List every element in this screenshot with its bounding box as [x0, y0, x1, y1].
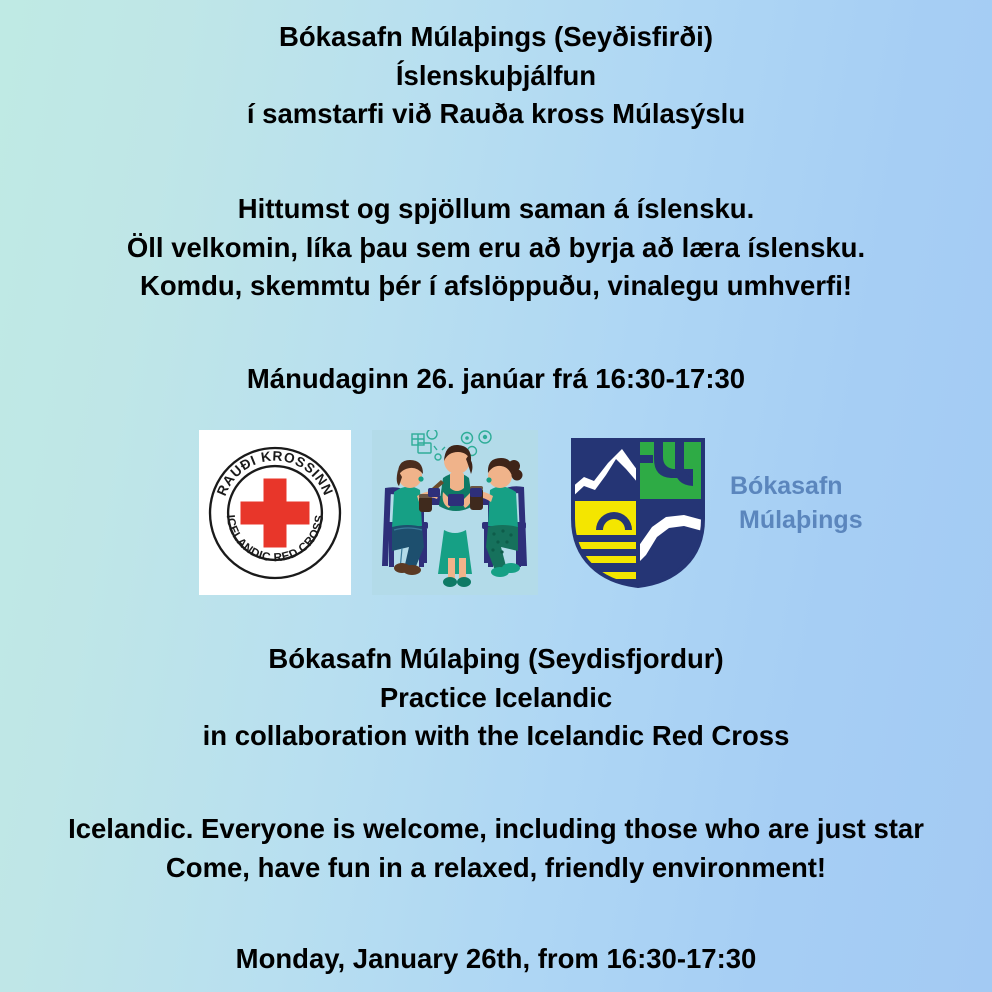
icelandic-heading: Bókasafn Múlaþings (Seyðisfirði) Íslensk… [0, 18, 992, 134]
english-body-line-2: Come, have fun in a relaxed, friendly en… [0, 849, 992, 888]
shield-icon [570, 437, 706, 589]
library-wordmark: Bókasafn Múlaþings [730, 470, 900, 538]
english-heading-line-3: in collaboration with the Icelandic Red … [0, 717, 992, 756]
icelandic-body-line-2: Öll velkomin, líka þau sem eru að byrja … [0, 229, 992, 268]
icelandic-red-cross-logo: RAUÐI KROSSINN ICELANDIC RED CROSS [199, 430, 351, 595]
poster-canvas: Bókasafn Múlaþings (Seyðisfirði) Íslensk… [0, 0, 992, 992]
logo-strip: RAUÐI KROSSINN ICELANDIC RED CROSS [196, 430, 896, 595]
english-body: Icelandic. Everyone is welcome, includin… [0, 810, 992, 887]
icelandic-body-line-3: Komdu, skemmtu þér í afslöppuðu, vinaleg… [0, 267, 992, 306]
library-wordmark-line-1: Bókasafn [730, 470, 900, 504]
mulathing-coat-of-arms [570, 437, 706, 589]
english-heading-line-2: Practice Icelandic [0, 679, 992, 718]
english-heading: Bókasafn Múlaþing (Seydisfjordur) Practi… [0, 640, 992, 756]
icelandic-heading-line-1: Bókasafn Múlaþings (Seyðisfirði) [0, 18, 992, 57]
icelandic-heading-line-3: í samstarfi við Rauða kross Múlasýslu [0, 95, 992, 134]
icelandic-body-line-1: Hittumst og spjöllum saman á íslensku. [0, 190, 992, 229]
people-at-table-illustration [372, 430, 538, 595]
library-wordmark-line-2: Múlaþings [730, 504, 900, 538]
red-cross-horizontal-bar [241, 501, 310, 524]
english-heading-line-1: Bókasafn Múlaþing (Seydisfjordur) [0, 640, 992, 679]
three-people-chatting-icon [372, 430, 538, 595]
icelandic-date-time: Mánudaginn 26. janúar frá 16:30-17:30 [0, 360, 992, 399]
english-date-time: Monday, January 26th, from 16:30-17:30 [0, 940, 992, 979]
icelandic-heading-line-2: Íslenskuþjálfun [0, 57, 992, 96]
english-body-line-1: Icelandic. Everyone is welcome, includin… [0, 810, 992, 849]
icelandic-body: Hittumst og spjöllum saman á íslensku. Ö… [0, 190, 992, 306]
